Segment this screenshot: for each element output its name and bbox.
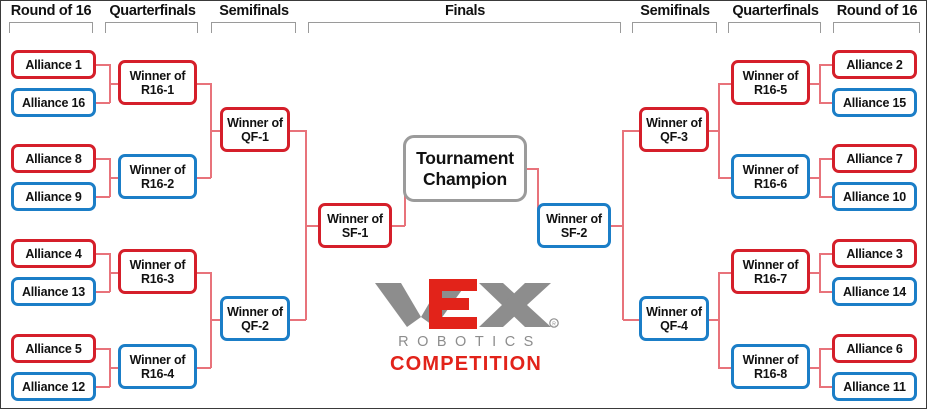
connector bbox=[718, 367, 732, 369]
vex-wordmark-icon: R bbox=[373, 279, 559, 331]
alliance-box[interactable]: Alliance 9 bbox=[11, 182, 96, 211]
connector bbox=[819, 253, 833, 255]
alliance-label: Alliance 3 bbox=[843, 247, 905, 261]
quarterfinal-box[interactable]: Winner ofR16-7 bbox=[731, 249, 810, 294]
connector bbox=[96, 348, 110, 350]
round-header-quarterfinals-left: Quarterfinals bbox=[102, 3, 203, 19]
quarterfinal-box[interactable]: Winner ofR16-4 bbox=[118, 344, 197, 389]
semifinal-label: Winner ofQF-4 bbox=[643, 305, 705, 333]
final-label: Winner ofSF-1 bbox=[324, 212, 386, 240]
round-header-finals: Finals bbox=[306, 3, 624, 19]
quarterfinal-box[interactable]: Winner ofR16-3 bbox=[118, 249, 197, 294]
semifinal-box[interactable]: Winner ofQF-3 bbox=[639, 107, 709, 152]
connector bbox=[810, 272, 820, 274]
connector bbox=[819, 291, 833, 293]
connector bbox=[96, 386, 110, 388]
connector bbox=[718, 272, 732, 274]
alliance-box[interactable]: Alliance 8 bbox=[11, 144, 96, 173]
quarterfinal-label: Winner ofR16-6 bbox=[740, 163, 802, 191]
alliance-box[interactable]: Alliance 10 bbox=[832, 182, 917, 211]
round-header-round-of-16-right: Round of 16 bbox=[830, 3, 924, 19]
connector bbox=[609, 225, 623, 227]
connector bbox=[819, 158, 833, 160]
vex-competition-text: COMPETITION bbox=[390, 353, 542, 376]
quarterfinal-label: Winner ofR16-2 bbox=[127, 163, 189, 191]
header-bracket-quarterfinals-right bbox=[728, 22, 821, 33]
quarterfinal-label: Winner ofR16-3 bbox=[127, 258, 189, 286]
connector bbox=[819, 102, 833, 104]
connector bbox=[810, 83, 820, 85]
tournament-champion-box[interactable]: TournamentChampion bbox=[403, 135, 527, 202]
connector bbox=[819, 348, 833, 350]
alliance-box[interactable]: Alliance 11 bbox=[832, 372, 917, 401]
alliance-box[interactable]: Alliance 15 bbox=[832, 88, 917, 117]
semifinal-label: Winner ofQF-1 bbox=[224, 116, 286, 144]
connector bbox=[197, 83, 211, 85]
round-header-round-of-16-left: Round of 16 bbox=[5, 3, 97, 19]
quarterfinal-label: Winner ofR16-7 bbox=[740, 258, 802, 286]
quarterfinal-box[interactable]: Winner ofR16-2 bbox=[118, 154, 197, 199]
alliance-box[interactable]: Alliance 14 bbox=[832, 277, 917, 306]
alliance-box[interactable]: Alliance 3 bbox=[832, 239, 917, 268]
alliance-label: Alliance 5 bbox=[22, 342, 84, 356]
alliance-box[interactable]: Alliance 12 bbox=[11, 372, 96, 401]
alliance-label: Alliance 10 bbox=[840, 190, 909, 204]
connector bbox=[718, 177, 732, 179]
connector bbox=[197, 272, 211, 274]
quarterfinal-box[interactable]: Winner ofR16-1 bbox=[118, 60, 197, 105]
vex-robotics-text: ROBOTICS bbox=[390, 334, 542, 350]
svg-text:R: R bbox=[552, 322, 556, 328]
quarterfinal-box[interactable]: Winner ofR16-6 bbox=[731, 154, 810, 199]
final-box[interactable]: Winner ofSF-1 bbox=[318, 203, 392, 248]
alliance-label: Alliance 14 bbox=[840, 285, 909, 299]
alliance-box[interactable]: Alliance 13 bbox=[11, 277, 96, 306]
connector bbox=[290, 319, 306, 321]
tournament-bracket: Round of 16 Quarterfinals Semifinals Fin… bbox=[0, 0, 927, 409]
semifinal-label: Winner ofQF-3 bbox=[643, 116, 705, 144]
connector bbox=[96, 102, 110, 104]
alliance-label: Alliance 16 bbox=[19, 96, 88, 110]
alliance-label: Alliance 4 bbox=[22, 247, 84, 261]
connector bbox=[305, 225, 319, 227]
alliance-label: Alliance 11 bbox=[840, 380, 908, 394]
quarterfinal-label: Winner ofR16-8 bbox=[740, 353, 802, 381]
connector bbox=[96, 291, 110, 293]
alliance-box[interactable]: Alliance 6 bbox=[832, 334, 917, 363]
vex-robotics-competition-logo: R ROBOTICS COMPETITION bbox=[371, 279, 561, 385]
connector bbox=[708, 130, 719, 132]
quarterfinal-label: Winner ofR16-5 bbox=[740, 69, 802, 97]
alliance-box[interactable]: Alliance 4 bbox=[11, 239, 96, 268]
alliance-box[interactable]: Alliance 5 bbox=[11, 334, 96, 363]
alliance-box[interactable]: Alliance 16 bbox=[11, 88, 96, 117]
connector bbox=[96, 158, 110, 160]
alliance-label: Alliance 7 bbox=[843, 152, 905, 166]
alliance-label: Alliance 6 bbox=[843, 342, 905, 356]
header-bracket-quarterfinals-left bbox=[105, 22, 198, 33]
semifinal-box[interactable]: Winner ofQF-2 bbox=[220, 296, 290, 341]
quarterfinal-box[interactable]: Winner ofR16-8 bbox=[731, 344, 810, 389]
connector bbox=[623, 130, 639, 132]
round-header-semifinals-left: Semifinals bbox=[208, 3, 300, 19]
header-bracket-round-of-16-left bbox=[9, 22, 93, 33]
alliance-label: Alliance 2 bbox=[843, 58, 905, 72]
connector bbox=[810, 367, 820, 369]
semifinal-box[interactable]: Winner ofQF-1 bbox=[220, 107, 290, 152]
connector bbox=[391, 225, 405, 227]
quarterfinal-label: Winner ofR16-1 bbox=[127, 69, 189, 97]
round-header-semifinals-right: Semifinals bbox=[629, 3, 721, 19]
alliance-label: Alliance 1 bbox=[22, 58, 84, 72]
connector bbox=[197, 367, 211, 369]
connector bbox=[96, 196, 110, 198]
connector bbox=[810, 177, 820, 179]
quarterfinal-box[interactable]: Winner ofR16-5 bbox=[731, 60, 810, 105]
alliance-label: Alliance 13 bbox=[19, 285, 88, 299]
header-bracket-finals bbox=[308, 22, 621, 33]
tournament-champion-label: TournamentChampion bbox=[413, 148, 517, 189]
header-bracket-semifinals-right bbox=[632, 22, 717, 33]
connector bbox=[623, 319, 639, 321]
connector bbox=[708, 319, 719, 321]
connector bbox=[819, 64, 833, 66]
connector bbox=[290, 130, 306, 132]
semifinal-label: Winner ofQF-2 bbox=[224, 305, 286, 333]
header-bracket-round-of-16-right bbox=[833, 22, 920, 33]
alliance-label: Alliance 8 bbox=[22, 152, 84, 166]
connector bbox=[819, 386, 833, 388]
alliance-box[interactable]: Alliance 7 bbox=[832, 144, 917, 173]
connector bbox=[718, 83, 732, 85]
connector bbox=[527, 168, 538, 170]
connector bbox=[819, 196, 833, 198]
final-label: Winner ofSF-2 bbox=[543, 212, 605, 240]
quarterfinal-label: Winner ofR16-4 bbox=[127, 353, 189, 381]
header-bracket-semifinals-left bbox=[211, 22, 296, 33]
connector bbox=[96, 253, 110, 255]
connector bbox=[197, 177, 211, 179]
final-box[interactable]: Winner ofSF-2 bbox=[537, 203, 611, 248]
round-header-quarterfinals-right: Quarterfinals bbox=[725, 3, 826, 19]
alliance-label: Alliance 9 bbox=[22, 190, 84, 204]
connector bbox=[96, 64, 110, 66]
alliance-label: Alliance 12 bbox=[19, 380, 88, 394]
alliance-box[interactable]: Alliance 1 bbox=[11, 50, 96, 79]
semifinal-box[interactable]: Winner ofQF-4 bbox=[639, 296, 709, 341]
alliance-box[interactable]: Alliance 2 bbox=[832, 50, 917, 79]
alliance-label: Alliance 15 bbox=[840, 96, 909, 110]
